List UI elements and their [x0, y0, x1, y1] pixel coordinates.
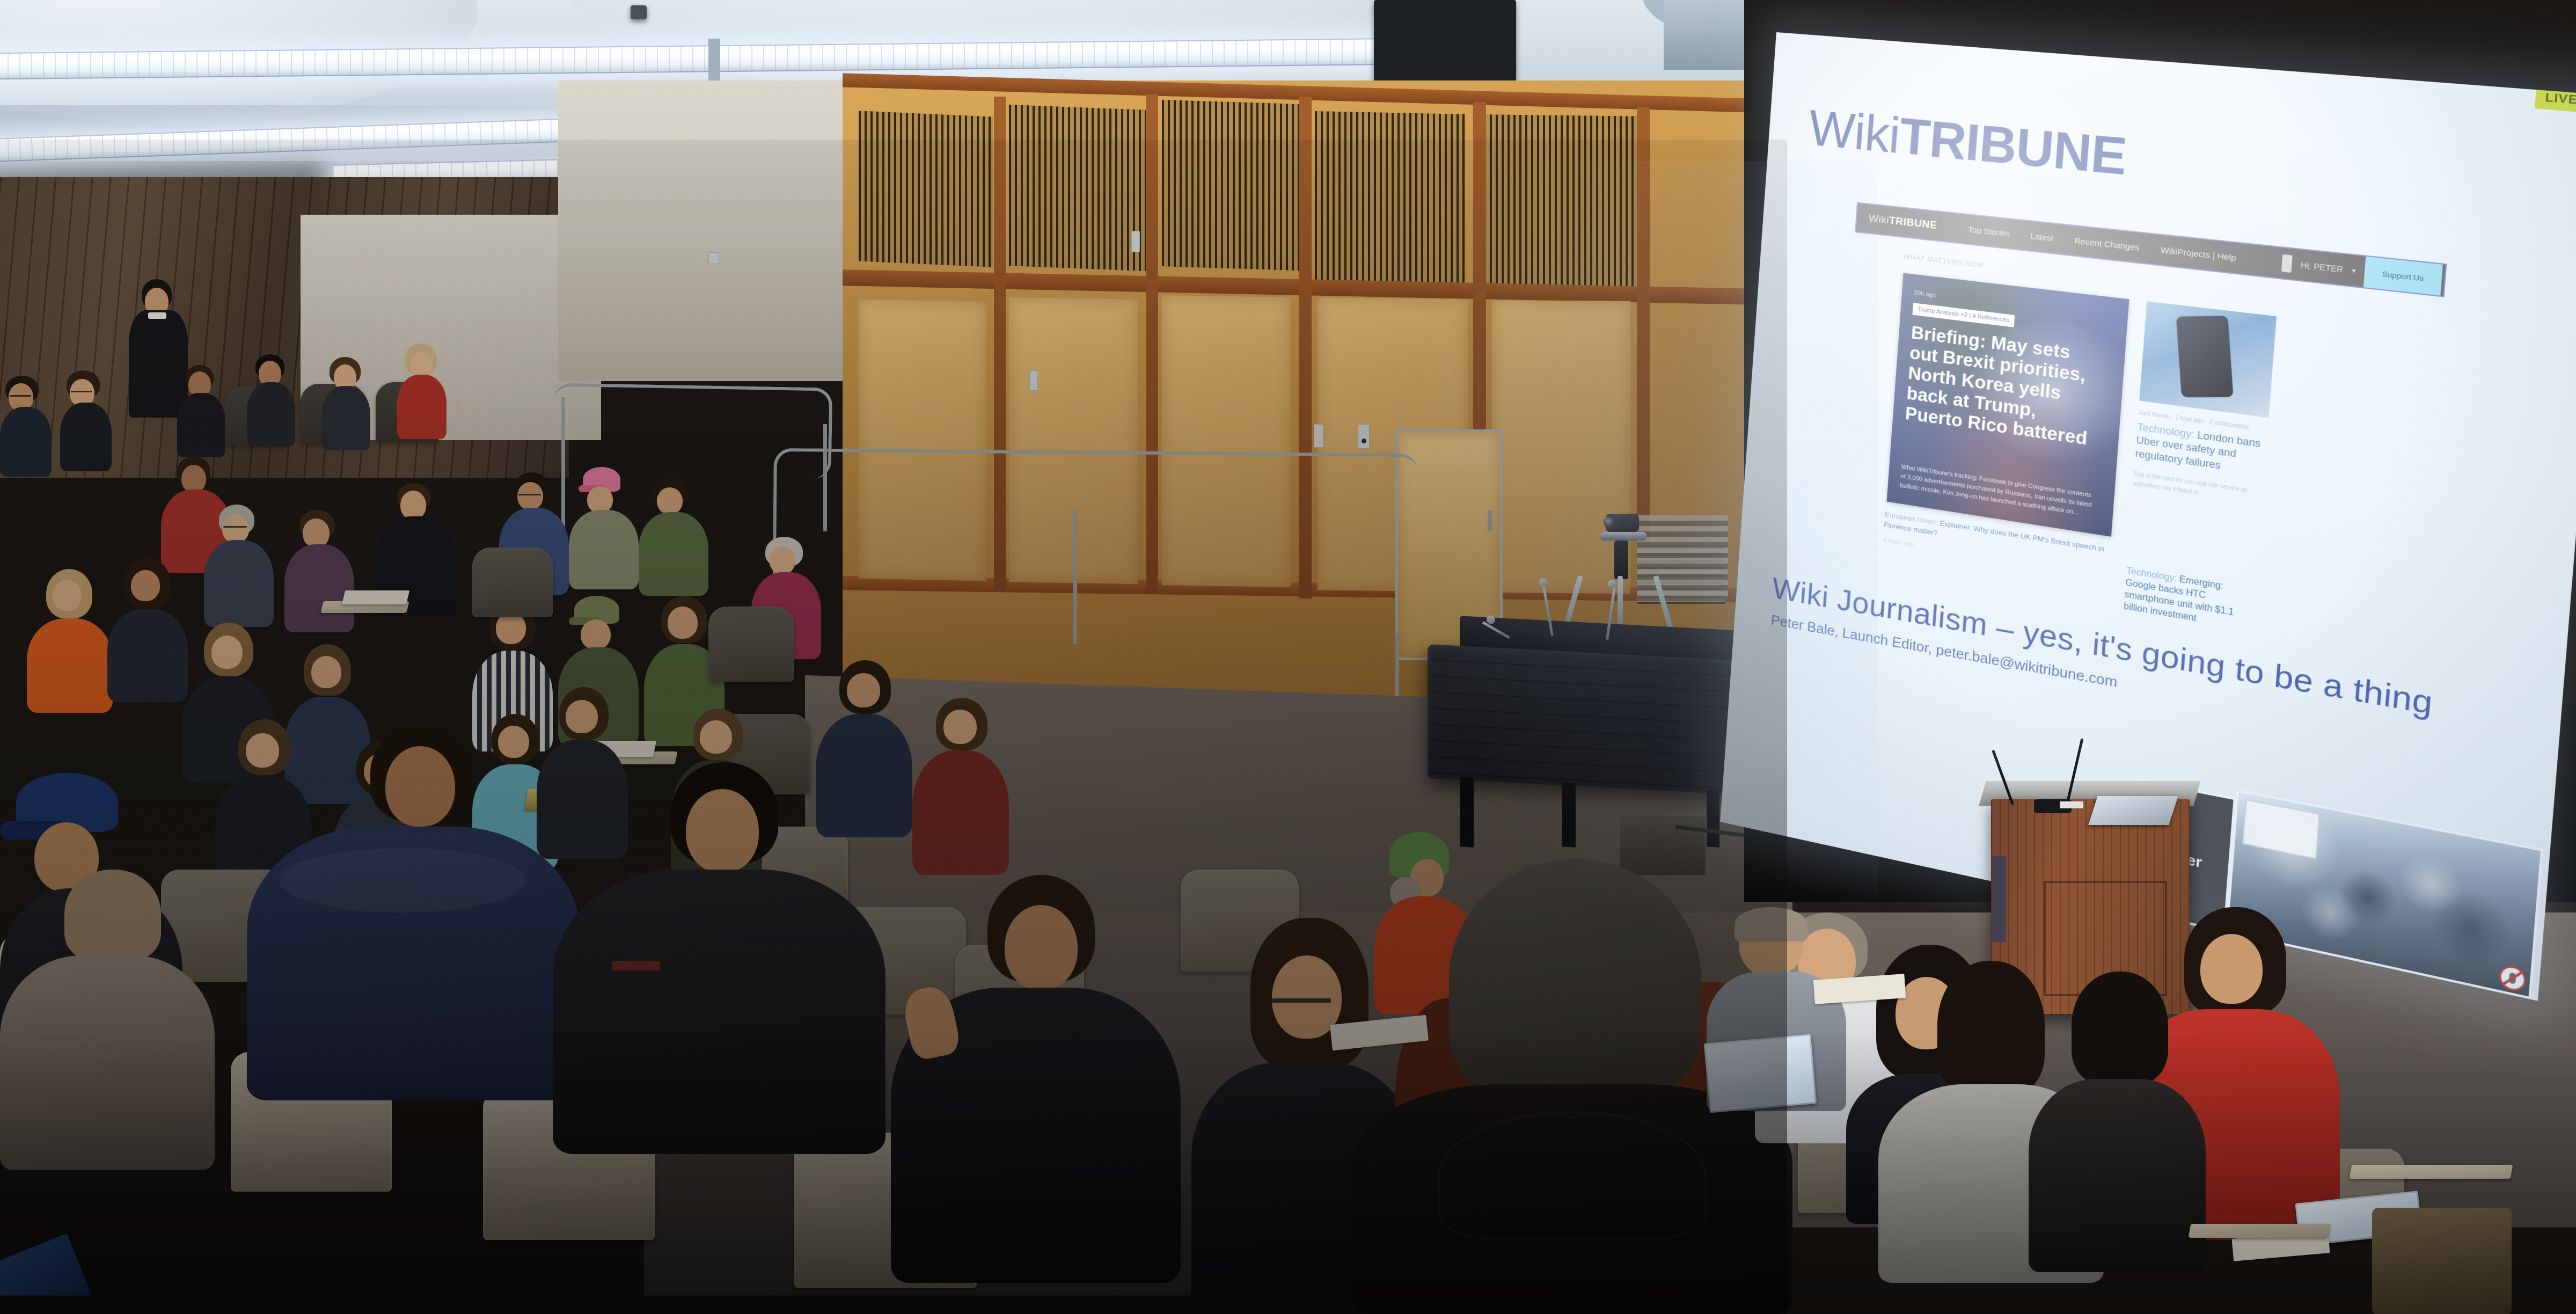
door-push-button[interactable] [1358, 424, 1370, 449]
acoustic-slat-panel-4 [1315, 111, 1465, 289]
video-feed-subscreen [2242, 799, 2320, 859]
logo-part-wiki: Wiki [1807, 100, 1901, 164]
head [517, 482, 543, 510]
torso [2029, 1079, 2206, 1272]
head [400, 491, 426, 520]
audience-laptop-2-blue[interactable] [0, 1230, 97, 1314]
head [847, 673, 880, 707]
acoustic-slat-panel-2 [1009, 105, 1146, 271]
wall-plate-mid [1029, 370, 1038, 391]
head [222, 514, 249, 543]
nav-logo-tribune: TRIBUNE [1889, 215, 1937, 231]
audience-laptop-1[interactable] [1704, 1034, 1817, 1113]
user-avatar-icon [2281, 254, 2293, 273]
piano-leg-right [1707, 790, 1719, 847]
ceiling-speaker [1374, 0, 1516, 82]
head [131, 570, 160, 601]
head [668, 607, 698, 639]
attendee-orange-jacket [27, 569, 113, 714]
attendee-short-dark-hair [639, 478, 708, 596]
glasses-icon [223, 526, 247, 528]
torso [322, 386, 370, 450]
lead-article-card[interactable]: 20h ago Trump Analysis +2 | 4 References… [1887, 273, 2129, 537]
side-article-thumbnail [2139, 301, 2277, 418]
attendee-back-1 [177, 365, 225, 456]
projection-screen: LIVE WikiTRIBUNE WikiTRIBUNE Top Stories… [1776, 32, 2538, 870]
side-article-title: London bans Uber over safety and regulat… [2135, 429, 2261, 471]
attendee-back-3 [322, 357, 370, 448]
nav-right-group: Hi, PETER ▾ Support Us [2281, 248, 2446, 296]
hair [2072, 972, 2168, 1084]
mic-slash [2502, 971, 2523, 985]
piano-leg-mid [1562, 782, 1576, 847]
hair [64, 870, 161, 961]
torso [27, 618, 113, 713]
wall-plate-upper [1131, 231, 1140, 252]
attendee-back-2 [247, 354, 295, 446]
torso [397, 375, 447, 439]
acoustic-slat-panel-1 [859, 111, 993, 267]
torso [60, 403, 112, 471]
nav-item-latest[interactable]: Latest [2030, 231, 2054, 243]
head [211, 636, 243, 669]
attendee-left-glasses-2 [60, 370, 112, 472]
collar [148, 312, 166, 319]
torso [912, 750, 1009, 875]
head [2200, 934, 2263, 1004]
glasses-icon [1272, 998, 1331, 1003]
head [700, 720, 732, 754]
attendee-left-glasses-1 [0, 376, 52, 478]
lectern-blue-panel [1992, 856, 2006, 942]
attendee-back-4-blonde [397, 344, 447, 440]
attendee-grey-hair [204, 505, 274, 628]
torso [107, 609, 188, 702]
door-handle[interactable] [1488, 510, 1492, 531]
side-article-card[interactable]: Jack Barton · 1 hour ago · 2 collaborato… [2133, 301, 2277, 508]
wall-plate-blank [1314, 424, 1323, 448]
attendee-purple [284, 510, 354, 633]
acoustic-slat-panel-3 [1162, 100, 1299, 271]
torso [177, 393, 225, 457]
torso [0, 955, 215, 1170]
head [587, 486, 613, 513]
torso [0, 407, 52, 477]
tripod-column [1614, 541, 1628, 579]
support-us-button[interactable]: Support Us [2363, 257, 2443, 296]
piano-mic-head-1 [1539, 578, 1548, 587]
hood-seam [1438, 1111, 1707, 1240]
piano-mic-head-3 [1487, 615, 1495, 624]
seat-left-tier-2[interactable] [708, 607, 794, 682]
section-kicker: WHAT MATTERS NOW [1903, 252, 1984, 269]
notepad-2 [342, 590, 409, 604]
attendee-dark-hair-mid [107, 558, 188, 703]
seat-left-tier-1[interactable] [472, 547, 553, 617]
lectern-laptop[interactable] [2088, 796, 2178, 825]
camcorder-lens [1604, 517, 1614, 528]
head [181, 465, 206, 493]
nav-logo-wiki: Wiki [1868, 213, 1890, 226]
piano-mic-head-2 [1608, 580, 1616, 589]
attendee-fg-black-jacket [553, 762, 885, 1154]
nav-item-top-stories[interactable]: Top Stories [1967, 224, 2010, 238]
lectern-nameplate [2060, 801, 2083, 808]
aisle-handrail-lower[interactable] [772, 448, 1418, 684]
wall-plate-outlet [708, 252, 719, 264]
head [657, 487, 683, 514]
head [311, 656, 341, 688]
attendee-pink-cap [569, 467, 639, 590]
hair-fringe [1735, 907, 1807, 941]
mid-wall-plaster [558, 81, 859, 381]
tablet-arm-desk-right-2 [2189, 1224, 2331, 1238]
nav-items: Top Stories Latest Recent Changes WikiPr… [1967, 224, 2236, 262]
wikitribune-logo: WikiTRIBUNE [1807, 100, 2128, 187]
side-article-2[interactable]: Technology: Emerging: Google backs HTC s… [2123, 565, 2256, 634]
attendee-fg-dark-right-edge [2029, 972, 2206, 1272]
head [581, 619, 611, 649]
torso [284, 544, 354, 632]
head [385, 746, 455, 827]
ceiling-projector [631, 5, 647, 19]
torso [569, 510, 639, 589]
side-article-2-title: Emerging: Google backs HTC smartphone un… [2123, 574, 2234, 623]
logo-part-tribune: TRIBUNE [1898, 108, 2128, 186]
lecture-hall-photo: EXIT [0, 0, 2576, 1314]
head [410, 352, 433, 378]
head [770, 546, 795, 574]
attendee-fg-navy-vest [247, 725, 580, 1100]
torso [553, 870, 885, 1154]
tablet-arm-desk-right [2350, 1165, 2513, 1179]
glasses-icon [10, 395, 31, 397]
jacket-logo [612, 961, 660, 970]
nav-user-label[interactable]: Hi, PETER [2300, 260, 2343, 274]
head [303, 519, 330, 547]
torso [639, 512, 708, 596]
attendee-fg-raising-hand [891, 875, 1181, 1283]
nav-item-wikiprojects-help[interactable]: WikiProjects | Help [2160, 245, 2236, 263]
mic-glyph [2509, 972, 2516, 984]
nav-logo[interactable]: WikiTRIBUNE [1856, 211, 1950, 233]
head [1005, 905, 1078, 990]
head [943, 710, 977, 744]
attendee-fg-beige-coat-left [0, 870, 215, 1170]
under-article-meta: 3 hours ago [1883, 537, 1915, 549]
torso [247, 382, 295, 447]
chevron-down-icon[interactable]: ▾ [2352, 266, 2356, 275]
tripod-head [1600, 532, 1646, 541]
grey-beanie [1449, 859, 1701, 1100]
torso [204, 540, 274, 627]
attendee-row-red [912, 698, 1009, 875]
head [686, 789, 759, 873]
acoustic-slat-panel-5 [1484, 114, 1637, 293]
glasses-icon [71, 391, 92, 392]
head [53, 580, 82, 611]
bag-right [2372, 1208, 2512, 1314]
handrail-post-2 [823, 424, 827, 531]
nav-item-recent-changes[interactable]: Recent Changes [2074, 236, 2140, 253]
handrail-post-3 [1073, 510, 1077, 644]
glasses-icon [518, 494, 541, 495]
mic-muted-icon[interactable] [2498, 963, 2527, 993]
vest-shoulder-highlight [279, 848, 526, 912]
laptop-screen [1706, 1036, 1815, 1111]
